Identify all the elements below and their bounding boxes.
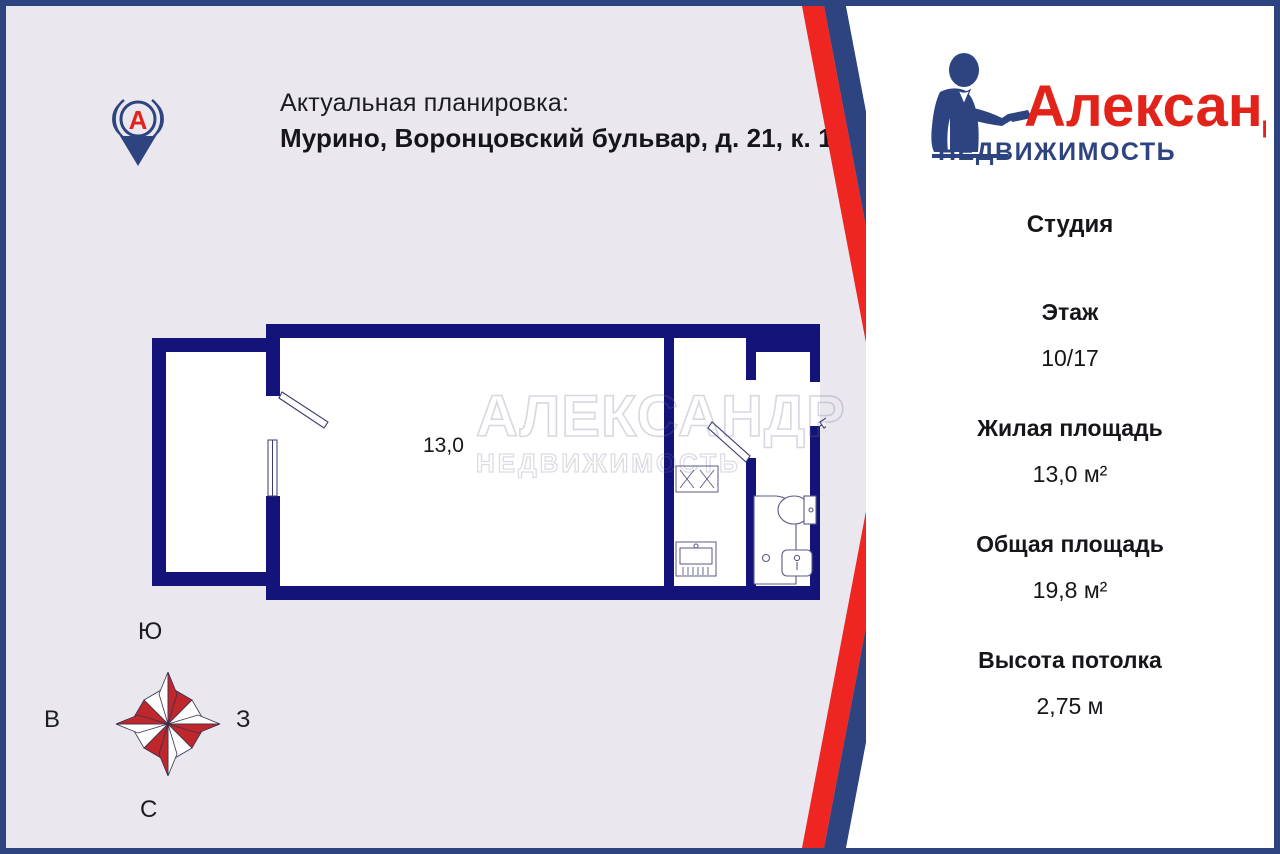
detail-label: Этаж xyxy=(866,295,1274,329)
detail-value: 2,75 м xyxy=(866,689,1274,723)
detail-value: 13,0 м² xyxy=(866,457,1274,491)
plan-panel: А Актуальная планировка: Мурино, Воронцо… xyxy=(6,6,866,848)
compass-label-right: З xyxy=(236,706,251,734)
property-type: Студия xyxy=(866,211,1274,239)
stove-icon xyxy=(676,466,718,492)
map-pin-icon: А xyxy=(110,90,166,168)
property-details: Студия Этаж 10/17 Жилая площадь 13,0 м² … xyxy=(866,211,1274,759)
company-logo: Александр НЕДВИЖИМОСТЬ xyxy=(916,48,1266,183)
svg-text:А: А xyxy=(129,105,148,135)
detail-label: Общая площадь xyxy=(866,527,1274,561)
detail-label: Высота потолка xyxy=(866,643,1274,677)
logo-subtitle-text: НЕДВИЖИМОСТЬ xyxy=(938,138,1176,166)
floor-plan-card: А Актуальная планировка: Мурино, Воронцо… xyxy=(0,0,1280,854)
header: А Актуальная планировка: Мурино, Воронцо… xyxy=(110,86,810,178)
detail-total-area: Общая площадь 19,8 м² xyxy=(866,527,1274,607)
kitchen-sink-icon xyxy=(676,542,716,576)
compass-star-icon xyxy=(112,668,224,780)
compass-label-bottom: С xyxy=(140,796,157,824)
compass-label-left: В xyxy=(44,706,60,734)
detail-floor: Этаж 10/17 xyxy=(866,295,1274,375)
room-area-label: 13,0 xyxy=(423,434,464,458)
detail-value: 19,8 м² xyxy=(866,573,1274,607)
floor-plan-drawing xyxy=(146,318,826,604)
info-panel: Александр НЕДВИЖИМОСТЬ Студия Этаж 10/17… xyxy=(866,6,1274,848)
compass-label-top: Ю xyxy=(138,618,162,646)
detail-value: 10/17 xyxy=(866,341,1274,375)
detail-living-area: Жилая площадь 13,0 м² xyxy=(866,411,1274,491)
compass-rose: Ю В З С xyxy=(40,610,276,836)
detail-ceiling-height: Высота потолка 2,75 м xyxy=(866,643,1274,723)
logo-brand-text: Александр xyxy=(1024,74,1266,139)
detail-label: Жилая площадь xyxy=(866,411,1274,445)
